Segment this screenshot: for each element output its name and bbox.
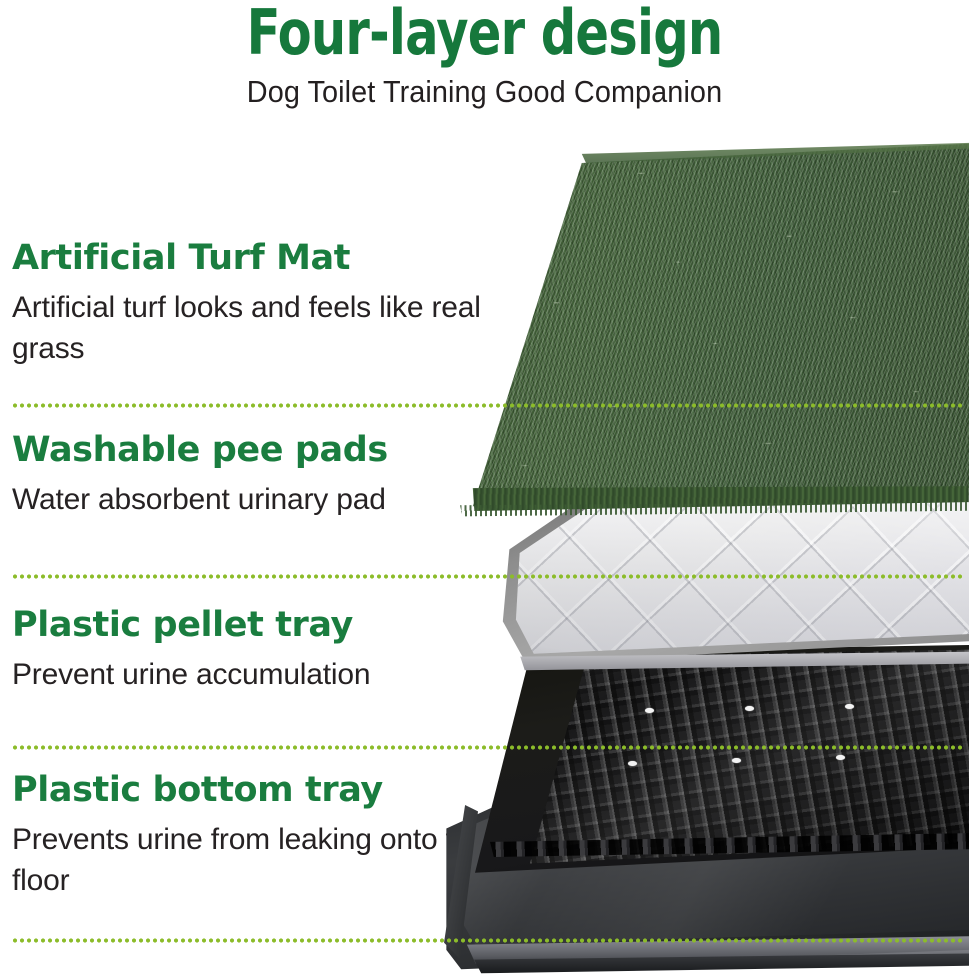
product-layer-stack (440, 140, 969, 971)
divider-dotted-2 (13, 574, 965, 579)
infographic-canvas: Four-layer design Dog Toilet Training Go… (0, 0, 969, 971)
peg-highlight-dot (645, 708, 654, 713)
peg-highlight-dot (628, 761, 637, 766)
divider-dotted-1 (13, 403, 965, 408)
divider-dotted-3 (13, 745, 965, 750)
artificial-turf-mat-layer (440, 140, 969, 510)
turf-highlights (440, 140, 969, 510)
header-block: Four-layer design Dog Toilet Training Go… (0, 0, 969, 125)
peg-highlight-dot (845, 704, 854, 709)
peg-highlight-dot (745, 706, 754, 711)
page-title: Four-layer design (97, 0, 872, 68)
plastic-pellet-tray-layer (470, 645, 969, 875)
peg-highlight-dot (836, 755, 845, 760)
peg-highlight-dot (732, 758, 741, 763)
divider-dotted-4 (13, 938, 965, 943)
page-subtitle: Dog Toilet Training Good Companion (34, 74, 935, 110)
washable-pee-pad-layer (500, 490, 969, 670)
